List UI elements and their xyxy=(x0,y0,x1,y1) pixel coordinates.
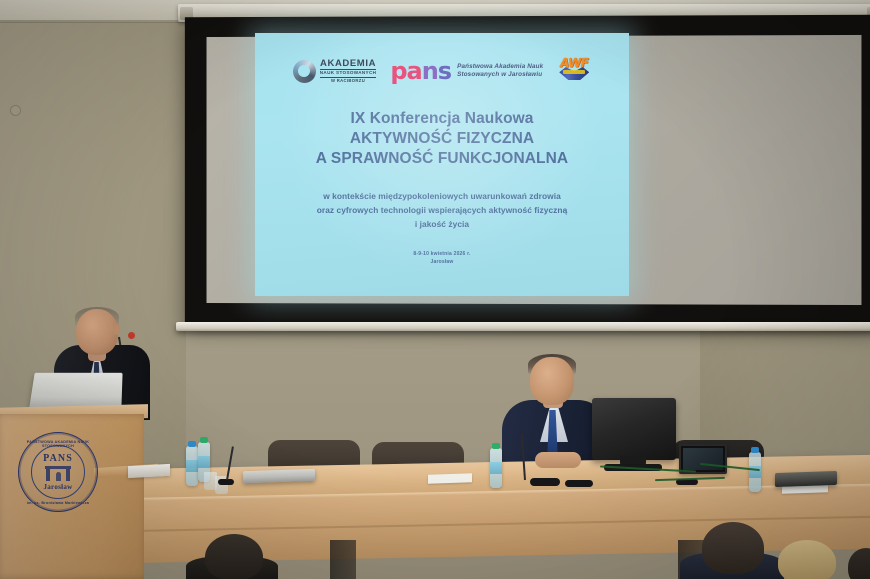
closed-laptop[interactable] xyxy=(775,471,837,487)
slide-subtitle-line3: i jakość życia xyxy=(317,218,568,232)
speaker-laptop[interactable] xyxy=(29,373,122,408)
seal-bottom-text: Jarosław xyxy=(43,483,72,491)
slide-subtitle-line2: oraz cyfrowych technologii wspierających… xyxy=(317,204,568,218)
seal-gate-icon xyxy=(45,466,71,481)
water-bottle[interactable] xyxy=(490,448,502,488)
desk-microphone[interactable] xyxy=(565,480,593,487)
slide-footer: 8-9-10 kwietnia 2026 r. Jarosław xyxy=(413,251,470,267)
slide-date: 8-9-10 kwietnia 2026 r. xyxy=(413,251,470,259)
akademia-swirl-icon xyxy=(293,60,316,83)
awf-wordmark: AWF xyxy=(558,56,590,71)
seal-center-text: PANS xyxy=(43,454,73,464)
pans-podium-seal: PAŃSTWOWA AKADEMIA NAUK STOSOWANYCH PANS… xyxy=(18,432,98,512)
slide-logo-row: AKADEMIA NAUK STOSOWANYCH W RACIBORZU pa… xyxy=(255,45,629,97)
akademia-logo-line2: NAUK STOSOWANYCH xyxy=(320,69,377,77)
bottle-cap-icon xyxy=(751,447,759,453)
seated-panelist-head xyxy=(530,357,574,405)
audience-head xyxy=(205,534,263,579)
bottle-label xyxy=(186,460,198,472)
water-bottle[interactable] xyxy=(749,452,761,492)
slide-title: IX Konferencja Naukowa AKTYWNOŚĆ FIZYCZN… xyxy=(316,109,568,169)
akademia-logo-line1: AKADEMIA xyxy=(320,59,376,69)
desktop-monitor xyxy=(592,398,676,460)
closed-laptop[interactable] xyxy=(243,469,315,484)
pans-logo: pans Państwowa Akademia Nauk Stosowanych… xyxy=(390,59,543,83)
conference-hall-photo: AKADEMIA NAUK STOSOWANYCH W RACIBORZU pa… xyxy=(0,0,870,579)
slide-subtitle-line1: w kontekście międzypokoleniowych uwarunk… xyxy=(317,190,568,204)
awf-logo: AWF xyxy=(557,55,591,87)
paper-stack[interactable] xyxy=(128,464,170,478)
slide-title-line2: AKTYWNOŚĆ FIZYCZNA xyxy=(316,129,568,149)
seal-ring-bottom-text: im. ks. Bronisława Markiewicza xyxy=(19,501,97,505)
bottle-label xyxy=(198,456,210,468)
wall-fixture-icon xyxy=(10,105,21,116)
akademia-raciborz-logo: AKADEMIA NAUK STOSOWANYCH W RACIBORZU xyxy=(293,59,377,83)
bottle-cap-icon xyxy=(492,443,500,449)
bottle-cap-icon xyxy=(200,437,208,443)
akademia-logo-line3: W RACIBORZU xyxy=(331,79,365,83)
bottle-label xyxy=(490,462,502,474)
audience-head xyxy=(702,522,764,574)
paper-sheet[interactable] xyxy=(428,473,472,484)
podium-microphone-icon xyxy=(128,332,135,339)
seal-ring-top-text: PAŃSTWOWA AKADEMIA NAUK STOSOWANYCH xyxy=(19,440,97,448)
water-bottle[interactable] xyxy=(186,446,198,486)
slide-subtitle: w kontekście międzypokoleniowych uwarunk… xyxy=(317,190,568,231)
bottle-cap-icon xyxy=(188,441,196,447)
screen-bottom-bar xyxy=(176,322,870,331)
pans-logo-subline2: Stosowanych w Jarosławiu xyxy=(457,71,543,79)
slide-place: Jarosław xyxy=(413,259,470,267)
desk-microphone[interactable] xyxy=(530,478,560,486)
seated-panelist-hands xyxy=(535,452,581,468)
slide-title-line1: IX Konferencja Naukowa xyxy=(316,109,568,129)
slide-title-line3: A SPRAWNOŚĆ FUNKCJONALNA xyxy=(316,149,568,169)
head-table-leg xyxy=(330,540,356,579)
speaker-head xyxy=(76,309,118,355)
presentation-slide: AKADEMIA NAUK STOSOWANYCH W RACIBORZU pa… xyxy=(255,33,629,296)
speaker-ear xyxy=(113,324,120,335)
audience-head xyxy=(778,540,836,579)
pans-logo-subline1: Państwowa Akademia Nauk xyxy=(457,63,543,71)
pans-wordmark: pans xyxy=(390,59,451,83)
